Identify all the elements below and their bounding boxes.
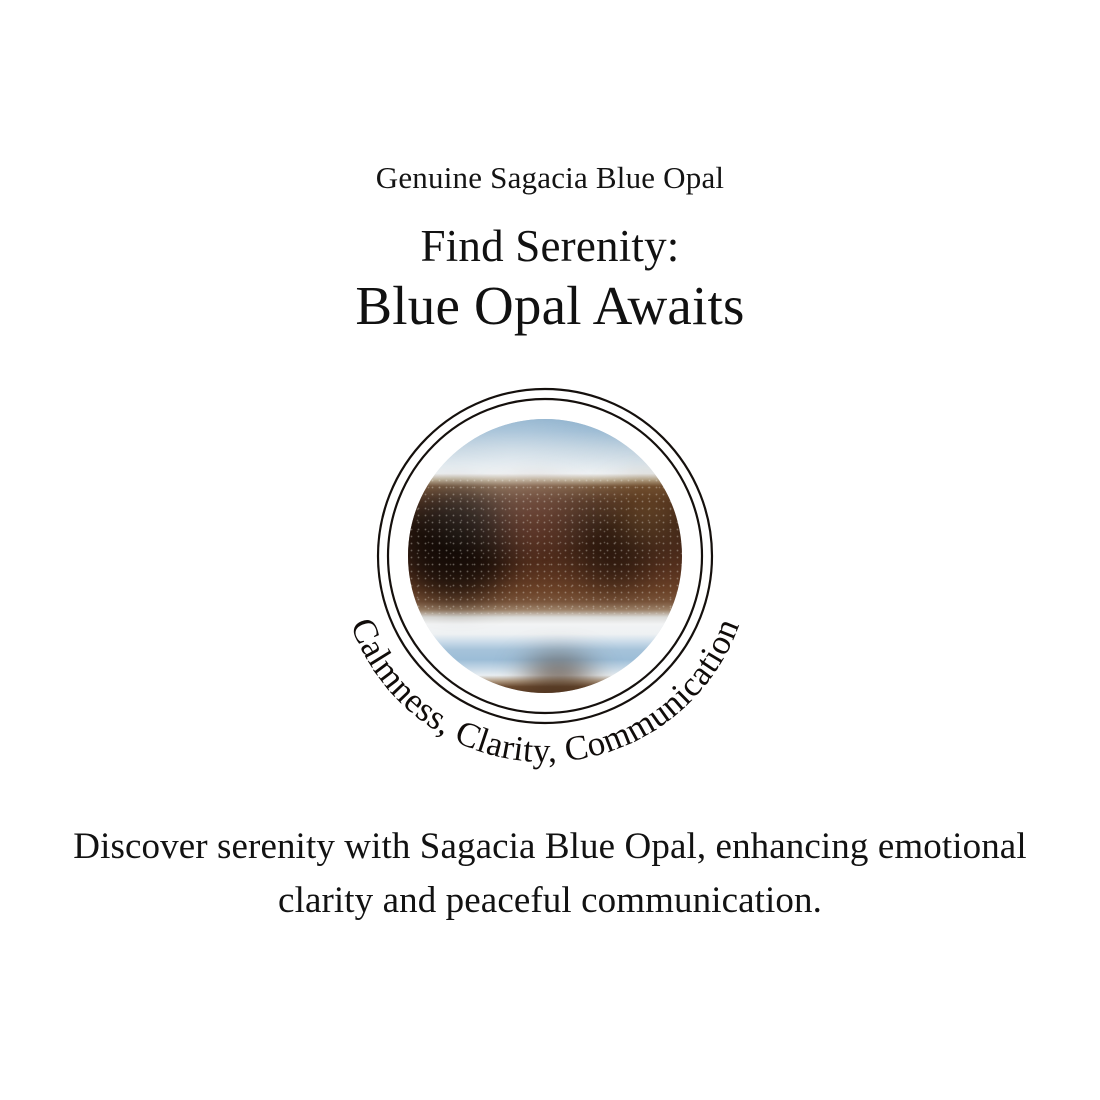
badge-rings-and-arc-text: Calmness, Clarity, Communication (295, 353, 795, 783)
headline-line-2: Blue Opal Awaits (0, 273, 1100, 339)
arc-text-path: Calmness, Clarity, Communication (343, 612, 747, 770)
eyebrow-text: Genuine Sagacia Blue Opal (0, 0, 1100, 196)
headline-line-1: Find Serenity: (0, 220, 1100, 273)
promo-card: Genuine Sagacia Blue Opal Find Serenity:… (0, 0, 1100, 1100)
body-paragraph: Discover serenity with Sagacia Blue Opal… (50, 820, 1050, 927)
circular-badge: Calmness, Clarity, Communication (295, 353, 795, 783)
outer-ring (378, 389, 712, 723)
inner-ring (388, 399, 702, 713)
arc-text: Calmness, Clarity, Communication (343, 612, 747, 770)
page-title: Find Serenity: Blue Opal Awaits (0, 196, 1100, 339)
header-text-block: Genuine Sagacia Blue Opal Find Serenity:… (0, 0, 1100, 339)
